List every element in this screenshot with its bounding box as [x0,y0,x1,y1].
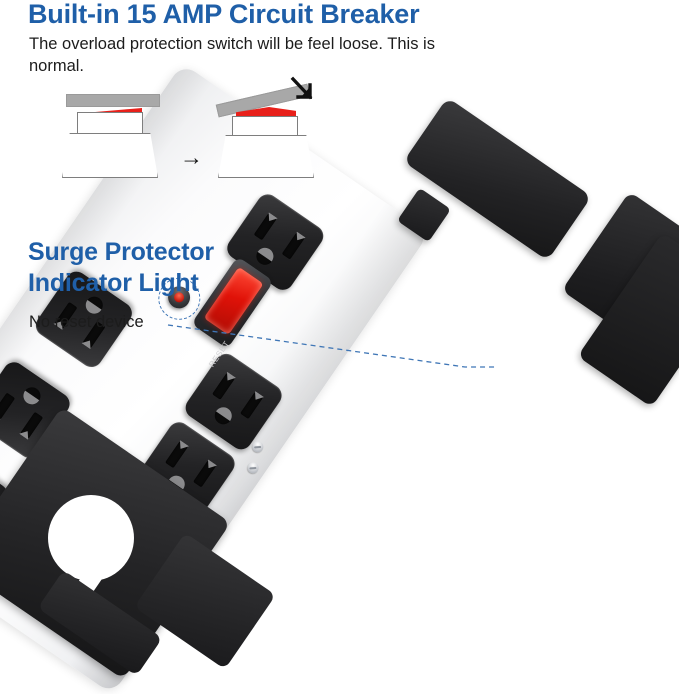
cover-bar-flush [66,94,160,107]
surge-title-line2: Indicator Light [28,268,214,299]
switch-neck [232,116,298,136]
surge-title-line1: Surge Protector [28,237,214,268]
switch-neck [77,112,143,134]
breaker-diagram: → [20,80,350,192]
page-title-surge: Surge Protector Indicator Light [28,237,214,299]
switch-base [218,135,314,178]
press-down-arrow [288,76,322,110]
switch-state-normal [48,80,168,185]
breaker-description: The overload protection switch will be f… [29,33,449,77]
outlet-slot-right [0,393,15,420]
transition-arrow: → [180,146,203,169]
switch-state-loose [210,80,340,185]
page-title-breaker: Built-in 15 AMP Circuit Breaker [28,0,419,30]
infographic-canvas: RESET [0,0,679,634]
keyhole-slot [48,495,138,585]
surge-subtitle: No reset device [29,311,144,333]
switch-base [62,133,158,178]
